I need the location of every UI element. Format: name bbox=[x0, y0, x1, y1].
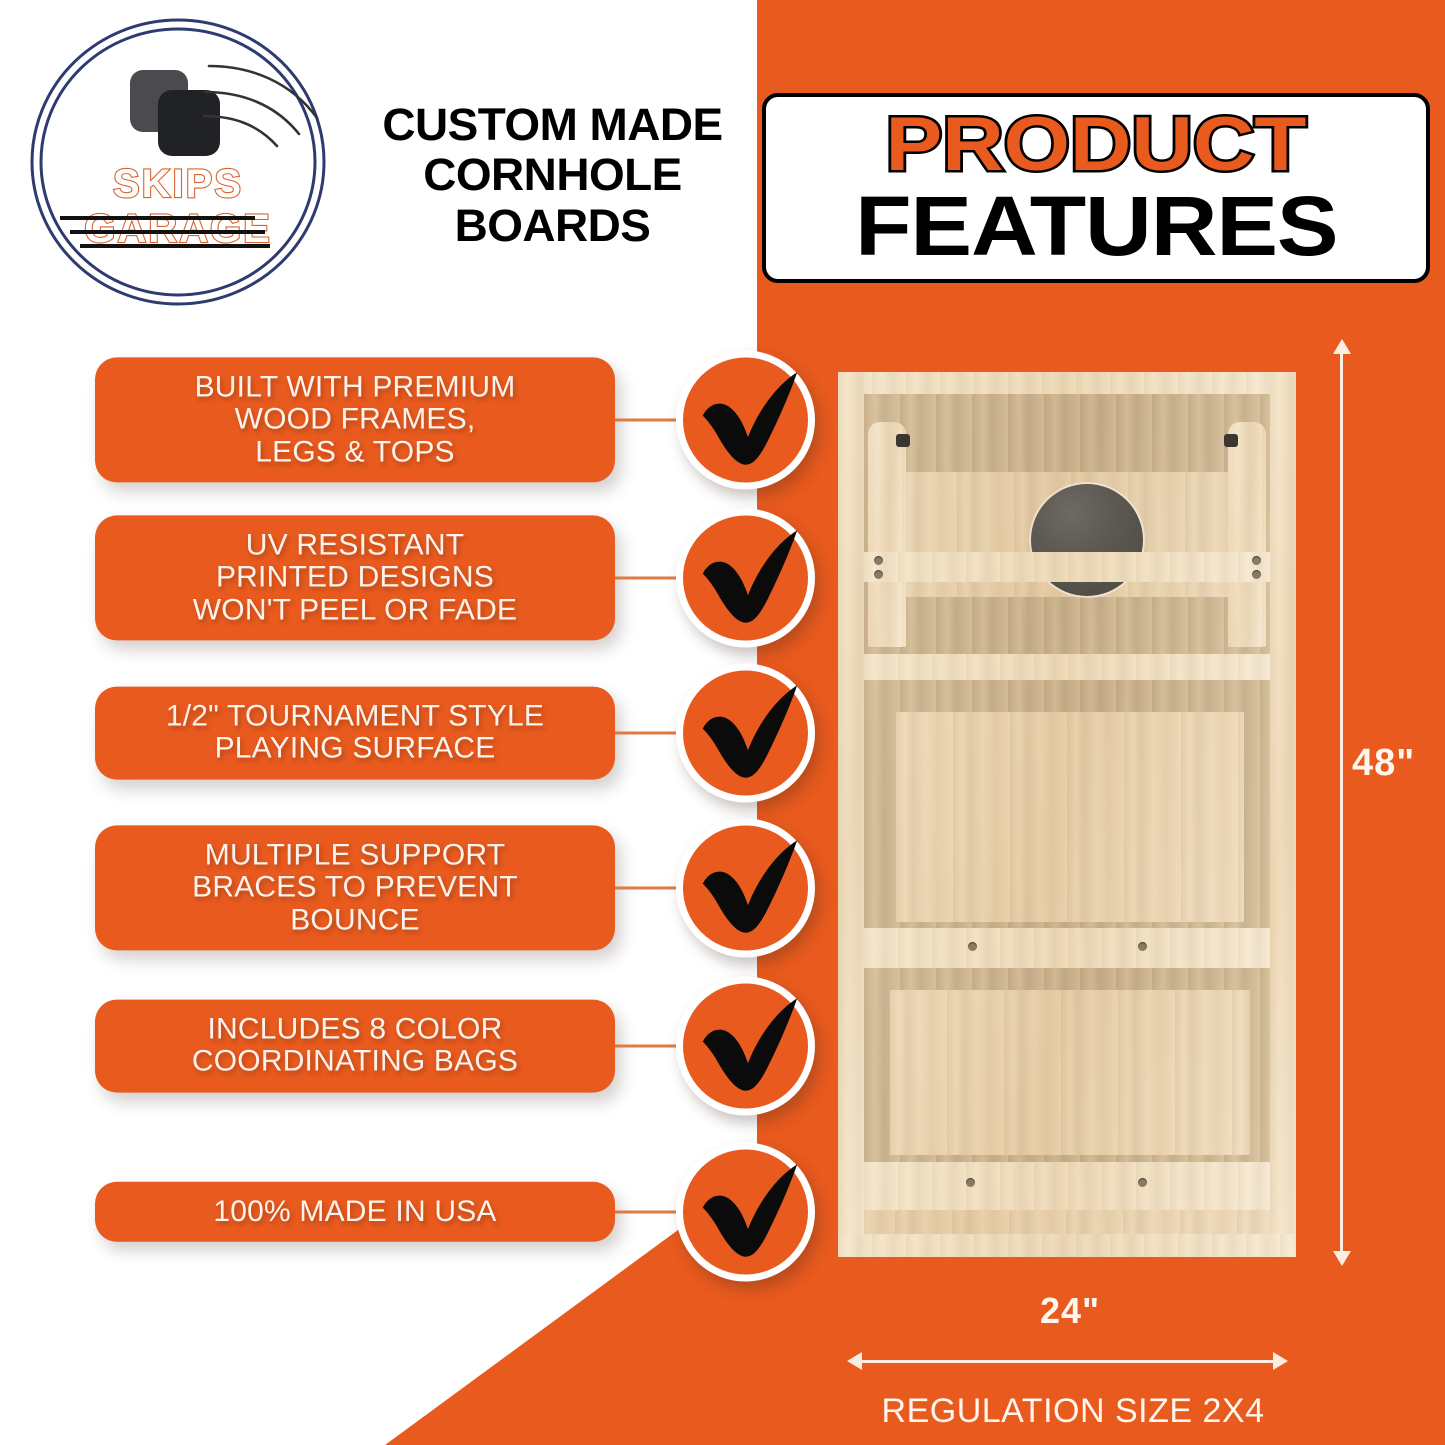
logo-underline-rules bbox=[18, 212, 338, 258]
width-arrow-right-icon bbox=[1273, 1352, 1288, 1370]
height-dimension-label: 48" bbox=[1352, 742, 1415, 785]
height-dimension-line bbox=[1340, 345, 1343, 1260]
board-screw bbox=[1138, 942, 1147, 951]
feature-text-line: INCLUDES 8 COLOR bbox=[192, 1014, 518, 1046]
board-panel-lower bbox=[890, 990, 1250, 1155]
feature-text-line: BUILT WITH PREMIUM bbox=[195, 371, 516, 403]
feature-text-line: MULTIPLE SUPPORT bbox=[192, 839, 518, 871]
board-brace-middle bbox=[864, 928, 1270, 968]
feature-text-line: LEGS & TOPS bbox=[195, 436, 516, 468]
width-dimension-line bbox=[860, 1360, 1280, 1363]
check-icon bbox=[676, 509, 815, 648]
check-icon bbox=[676, 351, 815, 490]
board-screw bbox=[1138, 1178, 1147, 1187]
board-screw bbox=[874, 570, 883, 579]
feature-text-line: PRINTED DESIGNS bbox=[193, 562, 517, 594]
board-frame-left bbox=[838, 372, 864, 1257]
board-shelf-mid-top bbox=[864, 654, 1270, 680]
board-brace-upper bbox=[864, 552, 1270, 582]
page-headline: CUSTOM MADE CORNHOLE BOARDS bbox=[346, 100, 759, 251]
check-icon bbox=[676, 819, 815, 958]
feature-pill-tournament-surface[interactable]: 1/2" TOURNAMENT STYLEPLAYING SURFACE bbox=[95, 687, 615, 780]
board-panel-middle bbox=[896, 712, 1244, 922]
board-leg-left bbox=[868, 422, 906, 647]
check-icon bbox=[676, 664, 815, 803]
headline-line-1: CUSTOM MADE bbox=[346, 100, 759, 150]
logo-motion-lines-icon bbox=[203, 60, 323, 150]
infographic-root: SKIPS GARAGE CUSTOM MADE CORNHOLE BOARDS… bbox=[0, 0, 1445, 1445]
headline-line-3: BOARDS bbox=[346, 201, 759, 251]
feature-text-line: BRACES TO PREVENT bbox=[192, 872, 518, 904]
height-arrow-down-icon bbox=[1333, 1251, 1351, 1266]
width-dimension-label: 24" bbox=[860, 1290, 1280, 1332]
board-screw bbox=[1252, 570, 1261, 579]
product-features-title-box: PRODUCT FEATURES bbox=[762, 93, 1430, 283]
board-leg-bolt-right bbox=[1224, 434, 1238, 447]
brand-logo: SKIPS GARAGE bbox=[18, 12, 338, 312]
board-frame-bottom bbox=[838, 1234, 1296, 1257]
feature-text-line: WOOD FRAMES, bbox=[195, 404, 516, 436]
board-screw bbox=[966, 1178, 975, 1187]
board-leg-right bbox=[1228, 422, 1266, 647]
feature-text-line: UV RESISTANT bbox=[193, 529, 517, 561]
feature-pill-support-braces[interactable]: MULTIPLE SUPPORTBRACES TO PREVENTBOUNCE bbox=[95, 825, 615, 950]
board-frame-right bbox=[1270, 372, 1296, 1257]
headline-line-2: CORNHOLE bbox=[346, 150, 759, 200]
check-icon bbox=[676, 977, 815, 1116]
board-screw bbox=[968, 942, 977, 951]
feature-text-line: PLAYING SURFACE bbox=[166, 733, 544, 765]
board-leg-bolt-left bbox=[896, 434, 910, 447]
feature-text-line: 1/2" TOURNAMENT STYLE bbox=[166, 701, 544, 733]
feature-text-line: COORDINATING BAGS bbox=[192, 1046, 518, 1078]
product-features-title-line-1: PRODUCT bbox=[886, 109, 1307, 181]
product-photo-cornhole-board bbox=[838, 372, 1296, 1257]
check-icon bbox=[676, 1143, 815, 1282]
board-screw bbox=[874, 556, 883, 565]
height-arrow-up-icon bbox=[1333, 339, 1351, 354]
feature-text-line: BOUNCE bbox=[192, 904, 518, 936]
product-features-title-line-2: FEATURES bbox=[855, 185, 1337, 267]
board-screw bbox=[1252, 556, 1261, 565]
board-frame-top bbox=[838, 372, 1296, 394]
width-arrow-left-icon bbox=[847, 1352, 862, 1370]
regulation-size-caption: REGULATION SIZE 2X4 bbox=[838, 1392, 1308, 1431]
feature-text-line: 100% MADE IN USA bbox=[213, 1196, 496, 1228]
feature-pill-color-bags[interactable]: INCLUDES 8 COLORCOORDINATING BAGS bbox=[95, 1000, 615, 1093]
board-brace-bottom bbox=[864, 1162, 1270, 1210]
feature-text-line: WON'T PEEL OR FADE bbox=[193, 594, 517, 626]
feature-pill-made-in-usa[interactable]: 100% MADE IN USA bbox=[95, 1182, 615, 1242]
feature-pill-premium-wood[interactable]: BUILT WITH PREMIUMWOOD FRAMES,LEGS & TOP… bbox=[95, 357, 615, 482]
feature-pill-uv-resistant[interactable]: UV RESISTANTPRINTED DESIGNSWON'T PEEL OR… bbox=[95, 515, 615, 640]
